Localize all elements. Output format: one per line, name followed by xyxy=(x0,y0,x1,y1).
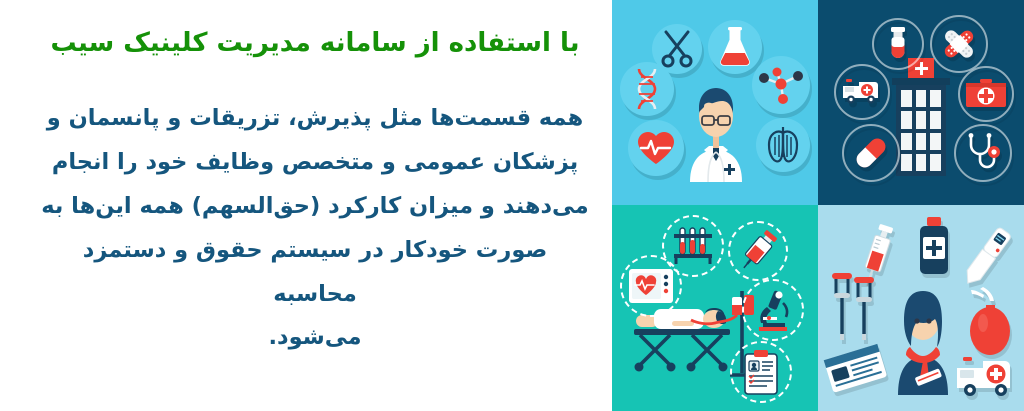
clipboard-chart-icon xyxy=(730,341,792,403)
paragraph-line: پزشکان عمومی و متخصص وظایف خود را انجام xyxy=(40,141,590,185)
paragraph-line: همه قسمت‌ها مثل پذیرش، تزریقات و پانسمان… xyxy=(40,97,590,141)
text-panel: با استفاده از سامانه مدیریت کلینیک سیب ه… xyxy=(0,0,612,411)
heart-monitor-icon xyxy=(620,255,682,317)
medical-illustration-collage xyxy=(612,0,1024,411)
paragraph-line: می‌شود. xyxy=(40,316,590,360)
molecule-icon xyxy=(752,56,810,114)
microscope-icon xyxy=(742,279,804,341)
health-card-icon xyxy=(826,345,888,395)
paragraph-line: صورت خودکار در سیستم حقوق و دستمزد محاسب… xyxy=(40,229,590,317)
hospital-building-illustration xyxy=(892,58,950,176)
ambulance-icon xyxy=(954,355,1016,399)
stethoscope-icon xyxy=(954,124,1012,182)
medicine-bottle-icon xyxy=(914,217,954,277)
collage-quadrant-bottom-left xyxy=(818,205,1024,411)
paragraph-line: می‌دهند و میزان کارکرد (حق‌السهم) همه ای… xyxy=(40,185,590,229)
description-paragraph: همه قسمت‌ها مثل پذیرش، تزریقات و پانسمان… xyxy=(40,97,590,360)
crutches-icon xyxy=(830,271,886,343)
heart-ecg-icon xyxy=(628,120,684,176)
hospital-windows xyxy=(896,85,946,176)
bandage-plasters-icon xyxy=(930,15,988,73)
collage-quadrant-top-left xyxy=(818,0,1024,205)
ambulance-icon xyxy=(834,64,890,120)
male-doctor-illustration xyxy=(680,78,752,182)
page-title: با استفاده از سامانه مدیریت کلینیک سیب xyxy=(40,26,590,61)
dna-helix-icon xyxy=(620,62,674,116)
lab-flask-icon xyxy=(708,20,762,74)
hospital-ledge xyxy=(892,78,950,85)
thermometer-icon xyxy=(958,223,1014,293)
collage-quadrant-top-right xyxy=(612,0,818,205)
promo-banner: با استفاده از سامانه مدیریت کلینیک سیب ه… xyxy=(0,0,1024,411)
collage-quadrant-bottom-right xyxy=(612,205,818,411)
female-nurse-illustration xyxy=(890,283,956,395)
blood-test-tube-icon xyxy=(872,18,924,70)
lungs-icon xyxy=(756,118,810,172)
pill-capsule-icon xyxy=(842,124,900,182)
syringe-icon xyxy=(728,221,788,281)
first-aid-kit-icon xyxy=(958,66,1014,122)
enema-bulb-icon xyxy=(964,287,1016,359)
